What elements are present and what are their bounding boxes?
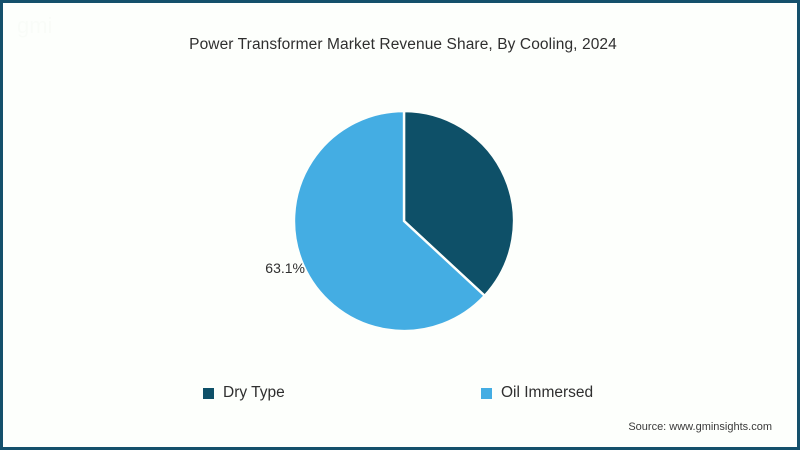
slice-label-oil-immersed: 63.1% — [241, 260, 305, 276]
legend-label-oil-immersed: Oil Immersed — [501, 385, 593, 401]
pie-chart-svg — [294, 111, 514, 331]
page-title: Power Transformer Market Revenue Share, … — [3, 36, 800, 54]
legend-item-oil-immersed[interactable]: Oil Immersed — [481, 382, 593, 404]
legend-item-dry-type[interactable]: Dry Type — [203, 382, 285, 404]
legend-swatch-dry-type-icon — [203, 388, 214, 399]
svg-text:gmi: gmi — [17, 13, 52, 38]
chart-figure: gmi Power Transformer Market Revenue Sha… — [0, 0, 800, 450]
chart-legend: Dry Type Oil Immersed — [203, 382, 623, 404]
source-attribution: Source: www.gminsights.com — [628, 421, 772, 433]
pie-chart — [294, 111, 514, 331]
legend-swatch-oil-immersed-icon — [481, 388, 492, 399]
legend-label-dry-type: Dry Type — [223, 385, 285, 401]
